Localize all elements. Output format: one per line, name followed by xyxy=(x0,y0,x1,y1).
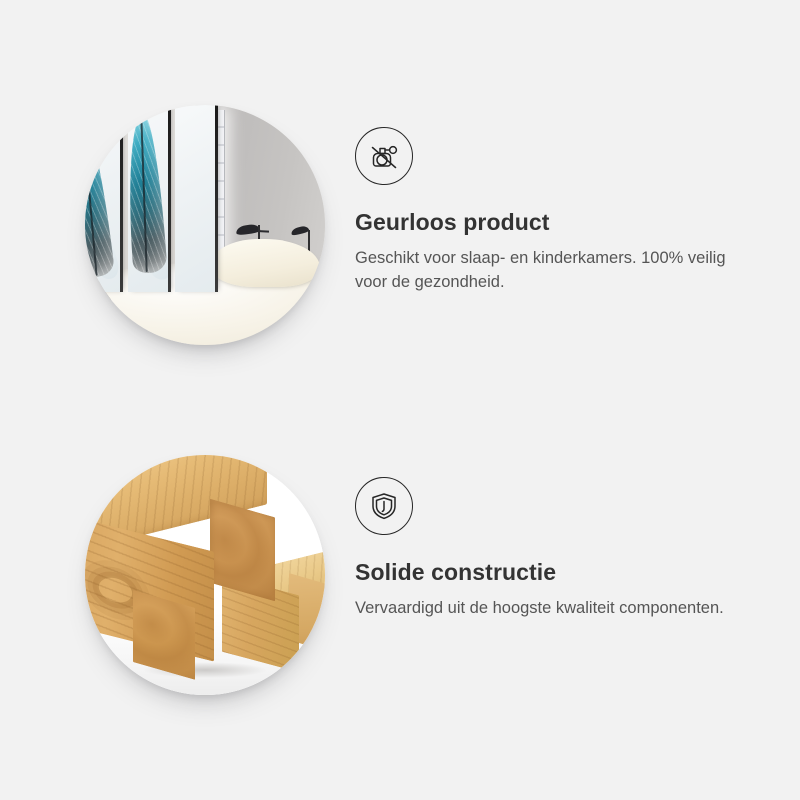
feather-triptych xyxy=(85,105,219,292)
pillow xyxy=(210,239,320,287)
feature-page: Geurloos product Geschikt voor slaap- en… xyxy=(0,0,800,800)
canvas-panel-2 xyxy=(128,105,171,292)
teal-feather xyxy=(85,122,115,278)
shield-icon xyxy=(355,477,413,535)
beam-end-grain xyxy=(210,499,275,602)
bedroom-scene xyxy=(85,105,325,345)
feature-title: Solide constructie xyxy=(355,559,760,587)
teal-feather xyxy=(128,115,168,274)
shield-glyph xyxy=(368,490,400,522)
feature-title: Geurloos product xyxy=(355,209,760,237)
feather-wall-art-bedroom-photo xyxy=(85,105,325,345)
canvas-panel-1 xyxy=(85,105,123,292)
feature-description: Geschikt voor slaap- en kinderkamers. 10… xyxy=(355,246,740,296)
no-fragrance-glyph xyxy=(367,139,401,173)
feature-text-column: Geurloos product Geschikt voor slaap- en… xyxy=(355,105,800,295)
feature-media-column xyxy=(0,455,355,695)
feather-barbs xyxy=(128,115,168,274)
feature-media-column xyxy=(0,105,355,345)
wood-scene xyxy=(85,455,325,695)
feature-block-solid-construction: Solide constructie Vervaardigd uit de ho… xyxy=(0,455,800,695)
canvas-panel-3 xyxy=(175,105,218,292)
duvet-fold xyxy=(103,341,291,345)
feature-text-column: Solide constructie Vervaardigd uit de ho… xyxy=(355,455,800,620)
wooden-blocks-photo xyxy=(85,455,325,695)
feature-block-odourless-product: Geurloos product Geschikt voor slaap- en… xyxy=(0,105,800,345)
no-fragrance-icon xyxy=(355,127,413,185)
feature-description: Vervaardigd uit de hoogste kwaliteit com… xyxy=(355,596,740,621)
